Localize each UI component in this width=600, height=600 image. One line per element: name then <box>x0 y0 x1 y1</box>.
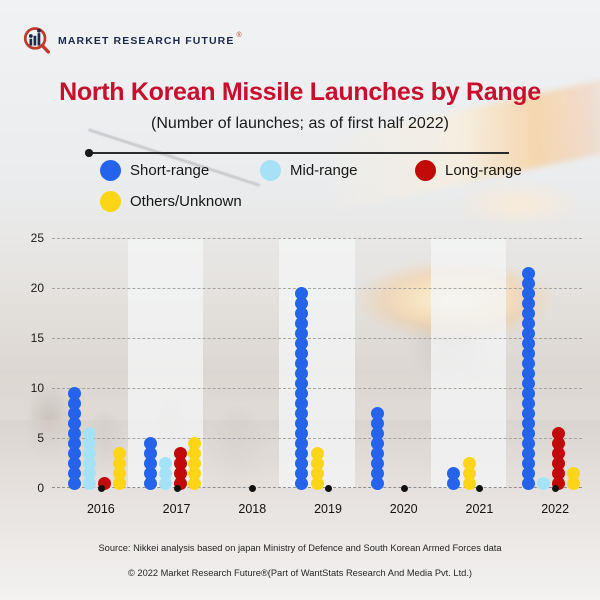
zero-marker-2021 <box>476 485 483 492</box>
y-axis-tick-15: 15 <box>31 331 44 345</box>
dot-stack-2021-others-unknown[interactable] <box>463 458 476 488</box>
dot-stack-2017-others-unknown[interactable] <box>188 438 200 488</box>
brand-logo-text: MARKET RESEARCH FUTURE <box>58 35 234 47</box>
y-axis-tick-0: 0 <box>37 481 44 495</box>
chart-column-2022[interactable] <box>506 268 582 488</box>
data-dot <box>522 267 535 280</box>
zero-marker-2022 <box>552 485 559 492</box>
dot-stack-2017-short-range[interactable] <box>144 438 156 488</box>
chart-plot-area: 05101520252016201720182019202020212022 <box>52 238 582 488</box>
dot-stack-2022-others-unknown[interactable] <box>567 468 579 488</box>
data-dot <box>463 457 476 470</box>
chart-column-2020[interactable] <box>355 408 431 488</box>
data-dot <box>113 447 126 460</box>
zero-marker-2020 <box>401 485 408 492</box>
chart: 05101520252016201720182019202020212022 <box>18 232 588 522</box>
dot-stack-2020-short-range[interactable] <box>371 408 384 488</box>
data-dot <box>68 387 81 400</box>
dot-stack-2022-mid-range[interactable] <box>537 478 549 488</box>
data-dot <box>144 437 157 450</box>
magnifier-bar-chart-icon <box>22 26 52 56</box>
x-axis-label-2016: 2016 <box>87 502 115 516</box>
legend-row-1: Short-range Mid-range Long-range <box>100 160 530 181</box>
data-dot <box>567 467 580 480</box>
x-axis-label-2020: 2020 <box>390 502 418 516</box>
infographic-content: MARKET RESEARCH FUTURE ® North Korean Mi… <box>0 0 600 600</box>
data-dot <box>537 477 550 490</box>
x-axis-label-2018: 2018 <box>238 502 266 516</box>
x-axis-label-2019: 2019 <box>314 502 342 516</box>
zero-marker-2017 <box>174 485 181 492</box>
legend-label-short-range: Short-range <box>130 162 209 179</box>
divider-line <box>91 152 509 154</box>
page-subtitle: (Number of launches; as of first half 20… <box>0 115 600 133</box>
zero-marker-2016 <box>98 485 105 492</box>
y-axis-tick-20: 20 <box>31 281 44 295</box>
dot-stack-2017-long-range[interactable] <box>174 448 186 488</box>
x-axis-label-2017: 2017 <box>163 502 191 516</box>
dot-stack-2022-short-range[interactable] <box>522 268 534 488</box>
legend-item-mid-range[interactable]: Mid-range <box>260 160 415 181</box>
chart-column-2016[interactable] <box>52 388 128 488</box>
legend-label-others-unknown: Others/Unknown <box>130 193 242 210</box>
dot-stack-2017-mid-range[interactable] <box>159 458 171 488</box>
x-axis-label-2022: 2022 <box>541 502 569 516</box>
dot-stack-2019-others-unknown[interactable] <box>311 448 324 488</box>
dot-stack-2016-others-unknown[interactable] <box>113 448 125 488</box>
legend-row-2: Others/Unknown <box>100 191 530 212</box>
y-axis-tick-10: 10 <box>31 381 44 395</box>
title-divider <box>85 149 515 157</box>
dot-stack-2016-mid-range[interactable] <box>83 428 95 488</box>
y-axis-tick-25: 25 <box>31 231 44 245</box>
source-note: Source: Nikkei analysis based on japan M… <box>0 543 600 553</box>
copyright-note: © 2022 Market Research Future®(Part of W… <box>0 568 600 578</box>
chart-column-2019[interactable] <box>279 288 355 488</box>
legend-swatch-mid-range <box>260 160 281 181</box>
data-dot <box>188 437 201 450</box>
dot-stack-2016-short-range[interactable] <box>68 388 80 488</box>
divider-dot-right <box>85 149 93 157</box>
legend-item-short-range[interactable]: Short-range <box>100 160 260 181</box>
dot-stack-2021-short-range[interactable] <box>447 468 460 488</box>
chart-column-2017[interactable] <box>128 438 204 488</box>
legend-swatch-others-unknown <box>100 191 121 212</box>
data-dot <box>159 457 172 470</box>
data-dot <box>83 427 96 440</box>
legend-label-long-range: Long-range <box>445 162 522 179</box>
legend-item-long-range[interactable]: Long-range <box>415 160 522 181</box>
zero-marker-2018 <box>249 485 256 492</box>
chart-band-2021 <box>431 238 507 488</box>
brand-logo: MARKET RESEARCH FUTURE ® <box>22 26 246 56</box>
chart-column-2021[interactable] <box>431 458 507 488</box>
data-dot <box>371 407 384 420</box>
legend-label-mid-range: Mid-range <box>290 162 358 179</box>
gridline-25 <box>52 238 582 239</box>
x-axis-label-2021: 2021 <box>466 502 494 516</box>
y-axis-tick-5: 5 <box>37 431 44 445</box>
data-dot <box>174 447 187 460</box>
legend-swatch-long-range <box>415 160 436 181</box>
legend-swatch-short-range <box>100 160 121 181</box>
chart-legend: Short-range Mid-range Long-range Others/… <box>100 160 530 222</box>
zero-marker-2019 <box>325 485 332 492</box>
page-title: North Korean Missile Launches by Range <box>0 78 600 107</box>
dot-stack-2022-long-range[interactable] <box>552 428 564 488</box>
data-dot <box>447 467 460 480</box>
registered-mark: ® <box>236 32 241 39</box>
dot-stack-2019-short-range[interactable] <box>295 288 308 488</box>
legend-item-others-unknown[interactable]: Others/Unknown <box>100 191 242 212</box>
